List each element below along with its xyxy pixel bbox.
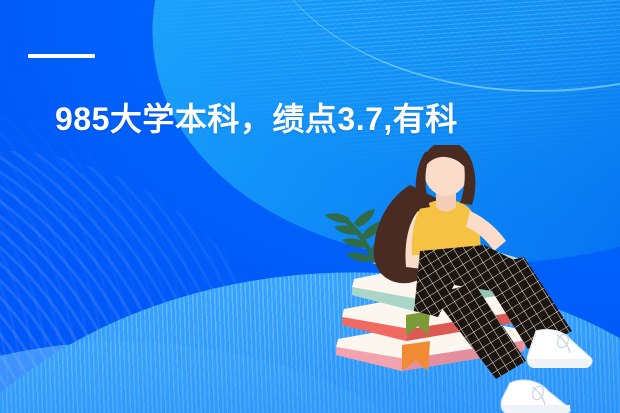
headline-accent-rule [28, 54, 95, 58]
illustration-woman-on-books [314, 145, 620, 413]
headline-text: 985大学本科，绩点3.7,有科 [55, 99, 600, 139]
promo-banner: 985大学本科，绩点3.7,有科 [0, 0, 620, 413]
figure-woman [374, 145, 592, 413]
